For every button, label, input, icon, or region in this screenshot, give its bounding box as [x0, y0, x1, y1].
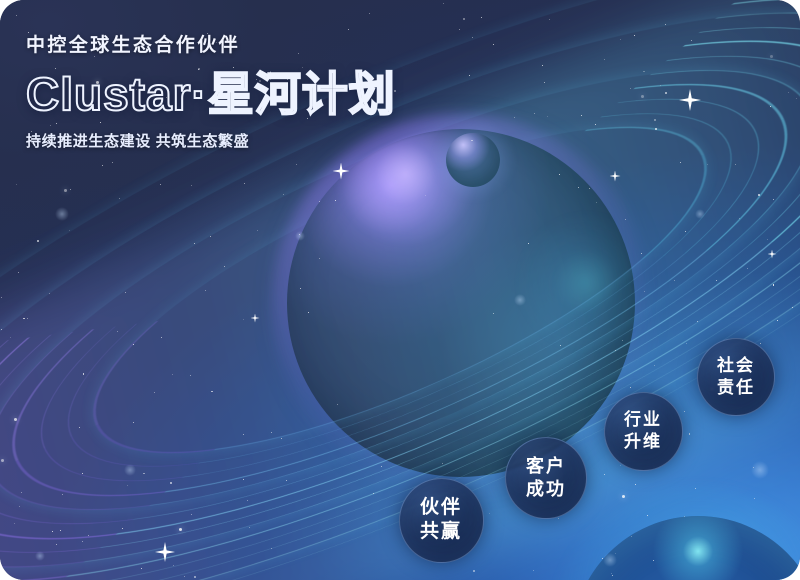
star-dot	[296, 164, 297, 165]
star-dot	[373, 493, 374, 494]
star-dot	[770, 55, 773, 58]
star-dot	[773, 284, 775, 286]
star-dot	[695, 488, 696, 489]
badge-label-line1: 伙伴	[420, 496, 462, 520]
star-dot	[558, 518, 559, 519]
star-dot	[56, 544, 57, 545]
badge-partner-win-win[interactable]: 伙伴共赢	[399, 478, 484, 563]
star-dot	[224, 266, 225, 267]
star-dot	[758, 194, 760, 196]
star-dot	[615, 350, 616, 351]
badge-label-line2: 成功	[526, 478, 566, 501]
star-dot	[674, 280, 675, 281]
badge-social-responsibility[interactable]: 社会责任	[697, 338, 775, 416]
page-title: Clustar·星河计划	[26, 70, 396, 118]
star-dot	[788, 92, 789, 93]
star-dot	[489, 513, 490, 514]
star-dot	[160, 184, 161, 185]
star-dot	[19, 506, 20, 507]
star-dot	[549, 19, 550, 20]
star-dot	[70, 189, 71, 190]
star-dot	[1, 297, 2, 298]
star-dot	[348, 29, 349, 30]
star-dot	[654, 365, 655, 366]
star-dot	[28, 32, 29, 33]
star-dot	[62, 494, 63, 495]
star-dot	[481, 17, 482, 18]
star-dot	[143, 473, 145, 475]
star-dot	[653, 560, 654, 561]
star-dot	[691, 40, 692, 41]
star-dot	[82, 473, 83, 474]
star-dot	[79, 427, 80, 428]
star-dot	[754, 498, 755, 499]
star-dot	[125, 292, 126, 293]
badge-label-line2: 责任	[717, 377, 755, 399]
star-dot	[133, 344, 134, 345]
star-dot	[472, 37, 473, 38]
star-dot	[64, 189, 67, 192]
star-dot	[620, 465, 621, 466]
star-dot	[14, 523, 15, 524]
star-dot	[697, 321, 698, 322]
star-dot	[249, 527, 250, 528]
star-dot	[630, 88, 631, 89]
star-dot	[660, 85, 661, 86]
star-dot	[560, 345, 561, 346]
star-dot	[767, 239, 768, 240]
eyebrow-text: 中控全球生态合作伙伴	[26, 36, 396, 55]
star-dot	[27, 318, 28, 319]
star-dot	[644, 291, 645, 292]
star-dot	[469, 75, 470, 76]
bokeh-orb	[603, 553, 617, 567]
star-dot	[179, 528, 182, 531]
star-dot	[60, 530, 61, 531]
star-dot	[686, 343, 687, 344]
badge-label: 客户成功	[526, 455, 566, 501]
star-dot	[14, 418, 17, 421]
star-dot	[684, 411, 685, 412]
badge-label-line2: 升维	[624, 431, 662, 453]
star-dot	[271, 432, 272, 433]
star-dot	[23, 318, 25, 320]
star-dot	[514, 117, 515, 118]
star-dot	[243, 319, 244, 320]
star-dot	[542, 65, 543, 66]
star-dot	[271, 548, 272, 549]
star-dot	[665, 24, 666, 25]
star-dot	[369, 13, 370, 14]
star-dot	[308, 312, 309, 313]
bokeh-orb	[35, 551, 45, 561]
star-dot	[337, 404, 338, 405]
star-dot	[471, 140, 473, 142]
star-dot	[194, 576, 196, 578]
star-dot	[596, 202, 597, 203]
star-dot	[443, 3, 444, 4]
star-dot	[493, 44, 494, 45]
star-dot	[184, 576, 185, 577]
star-dot	[604, 474, 605, 475]
badge-label: 社会责任	[717, 355, 755, 399]
star-dot	[620, 39, 621, 40]
star-dot	[442, 463, 443, 464]
badge-label: 行业升维	[624, 409, 662, 453]
star-dot	[641, 253, 642, 254]
headline-block: 中控全球生态合作伙伴 Clustar·星河计划 持续推进生态建设 共筑生态繁盛	[26, 36, 396, 149]
star-dot	[335, 200, 336, 201]
star-dot	[534, 113, 535, 114]
star-dot	[49, 293, 50, 294]
star-dot	[300, 288, 301, 289]
star-dot	[82, 541, 83, 542]
star-dot	[533, 570, 534, 571]
star-dot	[286, 480, 287, 481]
star-dot	[622, 340, 623, 341]
star-dot	[773, 199, 774, 200]
star-dot	[425, 195, 426, 196]
star-dot	[211, 391, 213, 393]
star-dot	[493, 313, 494, 314]
star-dot	[747, 268, 748, 269]
star-dot	[119, 198, 120, 199]
star-dot	[739, 218, 740, 219]
star-dot	[243, 434, 244, 435]
star-dot	[735, 164, 736, 165]
star-dot	[792, 307, 793, 308]
star-dot	[589, 188, 590, 189]
star-dot	[634, 35, 635, 36]
star-dot	[665, 92, 667, 94]
badge-label: 伙伴共赢	[420, 496, 462, 545]
star-dot	[10, 337, 11, 338]
star-dot	[52, 531, 53, 532]
bokeh-orb	[695, 209, 705, 219]
star-dot	[319, 201, 320, 202]
star-dot	[83, 373, 85, 375]
star-dot	[770, 106, 771, 107]
star-dot	[173, 565, 174, 566]
star-dot	[463, 18, 465, 20]
star-dot	[559, 174, 560, 175]
star-dot	[630, 387, 631, 388]
star-dot	[257, 230, 258, 231]
star-dot	[680, 162, 681, 163]
star-dot	[141, 568, 142, 569]
star-dot	[21, 492, 22, 493]
star-dot	[612, 575, 613, 576]
star-dot	[191, 185, 192, 186]
star-dot	[716, 280, 717, 281]
bokeh-orb	[124, 464, 136, 476]
banner-card: 中控全球生态合作伙伴 Clustar·星河计划 持续推进生态建设 共筑生态繁盛 …	[0, 0, 800, 580]
star-dot	[319, 258, 320, 259]
badge-customer-success[interactable]: 客户成功	[505, 437, 587, 519]
star-dot	[625, 219, 626, 220]
bokeh-orb	[751, 461, 769, 479]
badge-label-line1: 客户	[526, 455, 566, 478]
star-dot	[635, 484, 636, 485]
star-dot	[205, 290, 206, 291]
star-dot	[631, 536, 632, 537]
star-dot	[16, 184, 17, 185]
star-dot	[654, 119, 656, 121]
star-dot	[641, 95, 644, 98]
star-dot	[760, 343, 761, 344]
star-dot	[154, 392, 155, 393]
bokeh-orb	[295, 231, 305, 241]
star-dot	[283, 194, 284, 195]
star-dot	[381, 466, 382, 467]
star-dot	[112, 162, 113, 163]
star-dot	[243, 479, 244, 480]
star-dot	[595, 124, 596, 125]
star-dot	[796, 98, 797, 99]
star-dot	[459, 29, 460, 30]
star-dot	[247, 500, 248, 501]
star-dot	[544, 82, 545, 83]
subtitle-text: 持续推进生态建设 共筑生态繁盛	[26, 134, 396, 149]
badge-label-line1: 行业	[624, 409, 662, 431]
star-dot	[685, 231, 686, 232]
star-dot	[1, 329, 2, 330]
star-dot	[170, 482, 172, 484]
star-dot	[581, 115, 582, 116]
star-dot	[190, 375, 191, 376]
badge-label-line1: 社会	[717, 355, 755, 377]
star-dot	[777, 320, 778, 321]
star-dot	[655, 128, 657, 130]
star-dot	[16, 15, 17, 16]
star-dot	[161, 337, 162, 338]
star-dot	[122, 528, 123, 529]
star-dot	[18, 272, 19, 273]
star-dot	[622, 495, 625, 498]
star-dot	[244, 183, 245, 184]
star-dot	[473, 570, 475, 572]
star-dot	[578, 187, 579, 188]
star-dot	[102, 165, 103, 166]
star-dot	[172, 374, 173, 375]
star-dot	[133, 422, 134, 423]
badge-industry-upgrade[interactable]: 行业升维	[604, 392, 683, 471]
bokeh-orb	[514, 294, 526, 306]
star-dot	[117, 331, 118, 332]
star-dot	[194, 243, 195, 244]
star-dot	[528, 243, 529, 244]
star-dot	[647, 515, 648, 516]
star-dot	[127, 485, 128, 486]
star-dot	[689, 433, 691, 435]
star-dot	[547, 116, 548, 117]
star-dot	[191, 514, 192, 515]
star-dot	[707, 164, 708, 165]
star-dot	[88, 535, 89, 536]
star-dot	[604, 59, 606, 61]
star-dot	[1, 459, 4, 462]
bokeh-orb	[55, 207, 69, 221]
badge-label-line2: 共赢	[420, 520, 462, 544]
star-dot	[69, 230, 70, 231]
star-dot	[684, 516, 685, 517]
star-dot	[210, 236, 211, 237]
star-dot	[281, 438, 282, 439]
star-dot	[643, 71, 645, 73]
star-dot	[37, 240, 39, 242]
